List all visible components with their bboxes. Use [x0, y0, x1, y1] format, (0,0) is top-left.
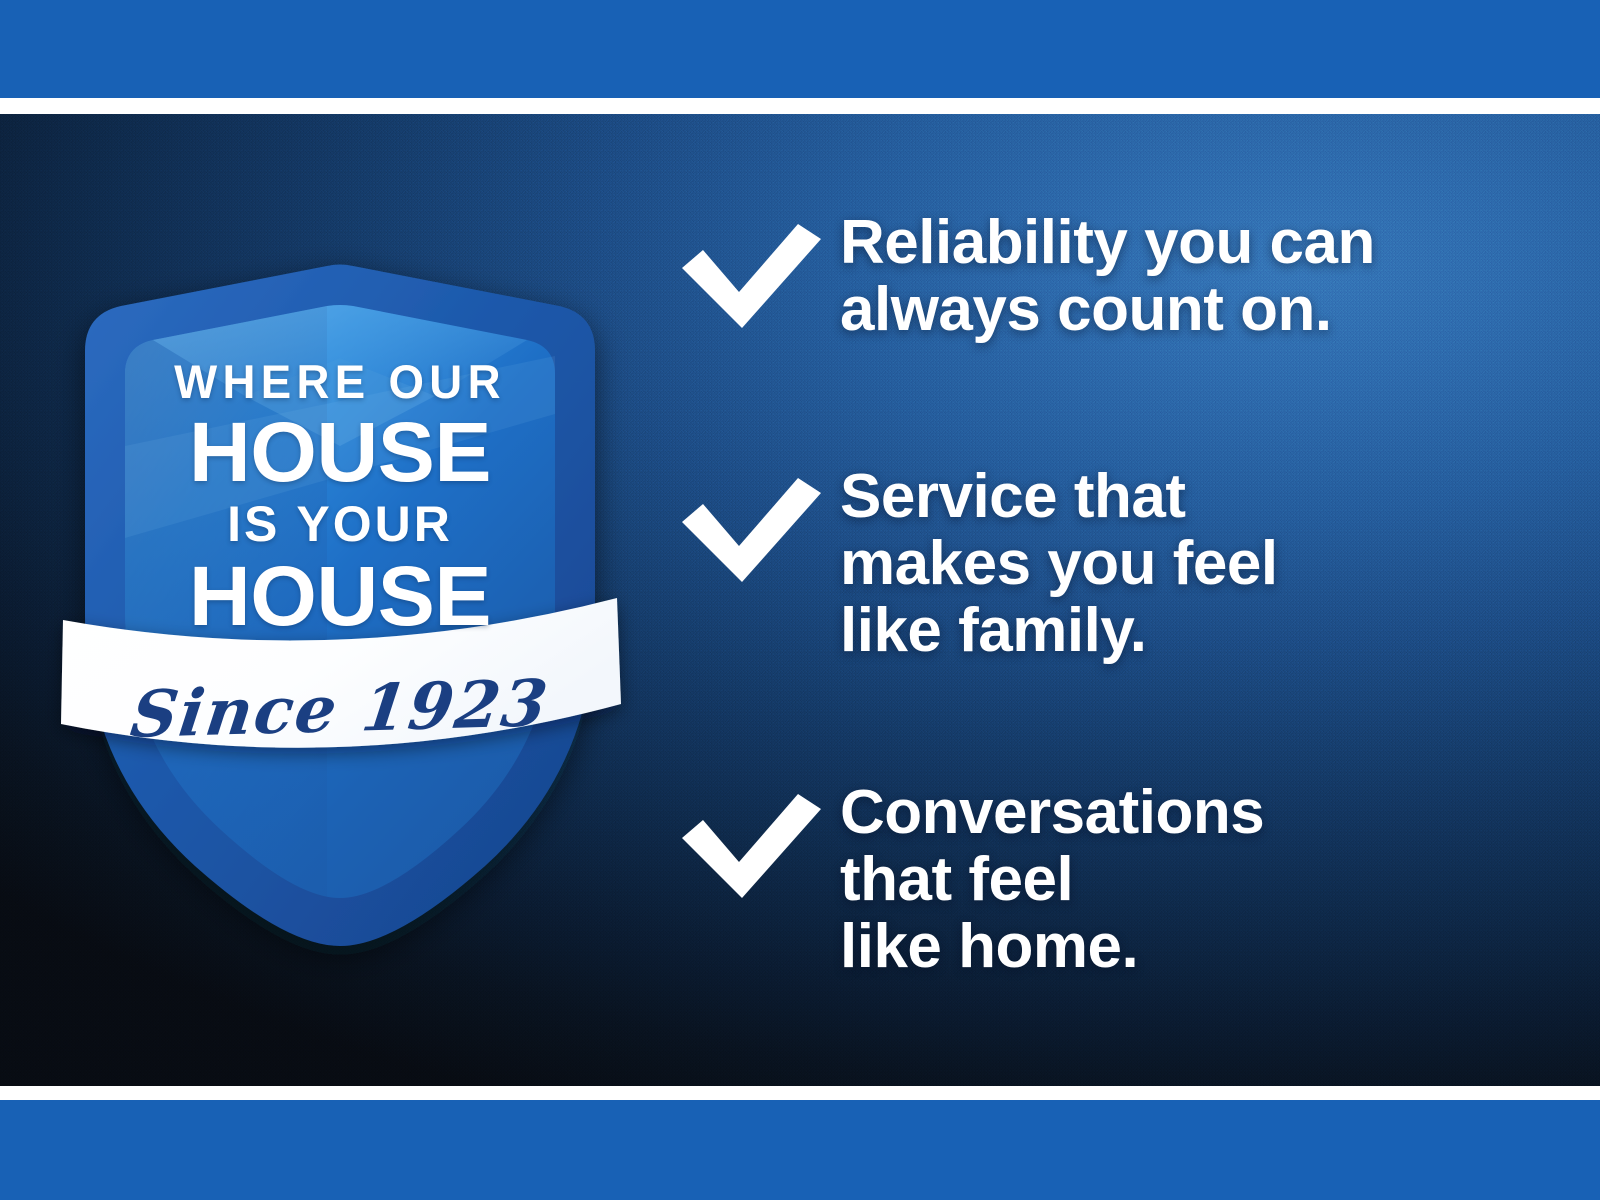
checkmark-icon: [676, 220, 826, 332]
benefit-text-2: Service that makes you feel like family.: [840, 464, 1278, 665]
benefit-item-1: Reliability you can always count on.: [676, 210, 1375, 344]
benefit-item-2: Service that makes you feel like family.: [676, 464, 1278, 665]
checkmark-icon: [676, 474, 826, 586]
benefit-2-line-2: makes you feel: [840, 531, 1278, 598]
benefit-2-line-3: like family.: [840, 598, 1278, 665]
benefit-item-3: Conversations that feel like home.: [676, 780, 1264, 981]
shield-badge: WHERE OUR HOUSE IS YOUR HOUSE Since 1923: [55, 146, 625, 966]
benefit-3-line-2: that feel: [840, 847, 1264, 914]
benefit-text-1: Reliability you can always count on.: [840, 210, 1375, 344]
promo-poster: WHERE OUR HOUSE IS YOUR HOUSE Since 1923…: [0, 0, 1600, 1200]
benefit-text-3: Conversations that feel like home.: [840, 780, 1264, 981]
bottom-brand-bar: [0, 1100, 1600, 1200]
benefit-2-line-1: Service that: [840, 464, 1278, 531]
benefit-1-line-1: Reliability you can: [840, 210, 1375, 277]
checkmark-icon: [676, 790, 826, 902]
benefit-1-line-2: always count on.: [840, 277, 1375, 344]
top-brand-bar: [0, 0, 1600, 98]
benefits-list: Reliability you can always count on. Ser…: [676, 114, 1556, 1086]
benefit-3-line-1: Conversations: [840, 780, 1264, 847]
benefit-3-line-3: like home.: [840, 914, 1264, 981]
